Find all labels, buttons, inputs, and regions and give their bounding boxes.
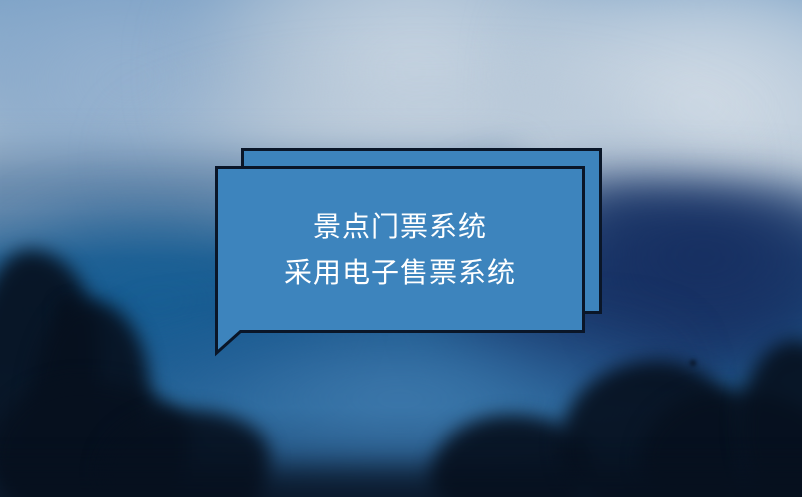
speech-bubble-shape	[0, 0, 802, 497]
callout-group: 景点门票系统 采用电子售票系统	[0, 0, 802, 497]
speech-bubble-front-panel	[217, 168, 584, 354]
screenshot-canvas: 景点门票系统 采用电子售票系统	[0, 0, 802, 497]
